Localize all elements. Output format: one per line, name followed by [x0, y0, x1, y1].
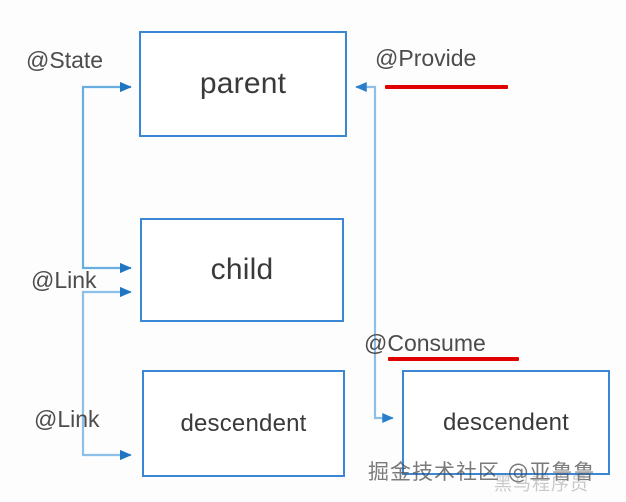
annotation-consume-underline — [388, 357, 519, 361]
node-parent[interactable]: parent — [139, 31, 347, 137]
node-child-label: child — [211, 253, 274, 287]
annotation-consume: @Consume — [364, 330, 486, 357]
annotation-provide-underline — [385, 85, 508, 89]
annotation-provide: @Provide — [375, 45, 476, 72]
node-parent-label: parent — [200, 67, 286, 101]
annotation-state: @State — [26, 47, 103, 74]
node-descendent-left-label: descendent — [180, 410, 306, 438]
node-descendent-right-label: descendent — [443, 409, 569, 437]
edge-left-trunk-upper — [83, 87, 131, 268]
annotation-link-child: @Link — [31, 267, 97, 294]
annotation-link-descendent: @Link — [34, 406, 100, 433]
node-descendent-right[interactable]: descendent — [402, 370, 610, 475]
edge-right-trunk — [356, 87, 393, 418]
node-descendent-left[interactable]: descendent — [142, 370, 345, 477]
node-child[interactable]: child — [140, 218, 344, 322]
diagram-canvas: parent child descendent descendent @Stat… — [0, 0, 626, 502]
